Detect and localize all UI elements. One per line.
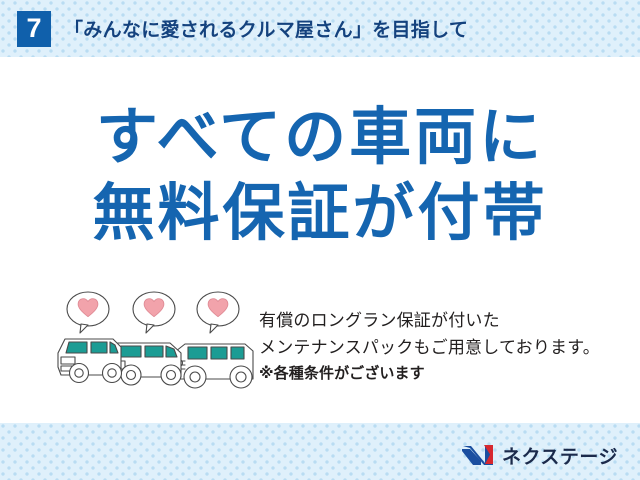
headline-line-1: すべての車両に xyxy=(0,107,640,169)
n-logo-icon xyxy=(461,443,495,467)
brand-name: ネクステージ xyxy=(502,442,618,469)
cars-illustration xyxy=(55,289,260,401)
car-kei xyxy=(58,339,122,383)
body-copy: 有償のロングラン保証が付いた メンテナンスパックもご用意しております。 ※各種条… xyxy=(259,308,619,385)
headline-line-2: 無料保証が付帯 xyxy=(0,183,640,245)
header-title: 「みんなに愛されるクルマ屋さん」を目指して xyxy=(64,15,468,42)
car-suv xyxy=(171,344,253,388)
brand-logo: ネクステージ xyxy=(461,440,618,470)
body-copy-line-2: メンテナンスパックもご用意しております。 xyxy=(259,335,619,362)
header: 7 「みんなに愛されるクルマ屋さん」を目指して xyxy=(0,0,640,57)
body-copy-line-1: 有償のロングラン保証が付いた xyxy=(259,308,619,335)
body-copy-note: ※各種条件がございます xyxy=(259,362,619,386)
step-number-badge: 7 xyxy=(17,11,51,47)
promo-banner: 7 「みんなに愛されるクルマ屋さん」を目指して すべての車両に 無料保証が付帯 xyxy=(0,0,640,480)
